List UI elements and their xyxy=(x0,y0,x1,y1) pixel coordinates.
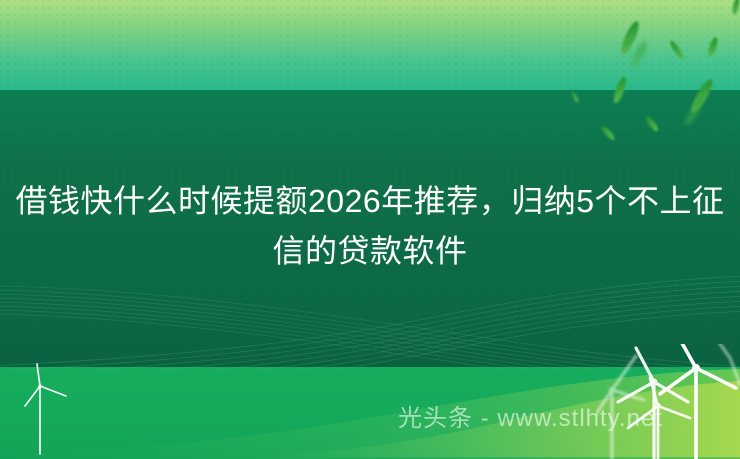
falling-leaves xyxy=(430,0,740,175)
article-banner: 借钱快什么时候提额2026年推荐，归纳5个不上征信的贷款软件 光头条 - www… xyxy=(0,0,740,459)
wind-turbine-cluster xyxy=(596,344,740,459)
watermark: 光头条 - www.stlhty.net xyxy=(398,404,663,434)
page-title: 借钱快什么时候提额2026年推荐，归纳5个不上征信的贷款软件 xyxy=(0,176,740,276)
wind-turbine-small xyxy=(18,362,78,457)
